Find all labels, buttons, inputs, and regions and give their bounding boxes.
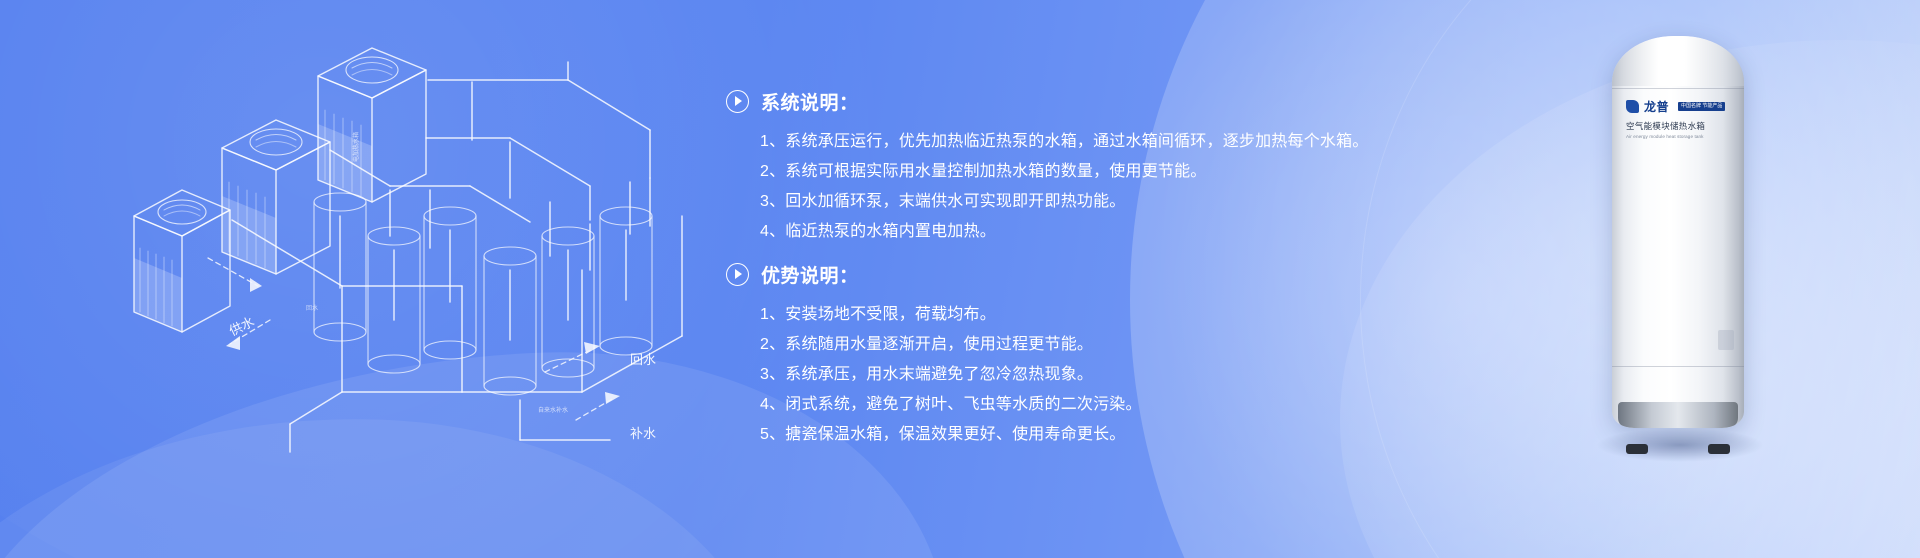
label-return-note: 回水 xyxy=(306,304,318,312)
storage-tank xyxy=(424,207,476,359)
description-column: 系统说明： 1、系统承压运行，优先加热临近热泵的水箱，通过水箱间循环，逐步加热每… xyxy=(726,88,1346,456)
tank-seam xyxy=(1612,366,1744,367)
brand-badge: 中国名牌 节能产品 xyxy=(1678,102,1725,111)
play-circle-icon xyxy=(726,263,749,286)
list-item: 5、搪瓷保温水箱，保温效果更好、使用寿命更长。 xyxy=(760,420,1346,450)
section-title: 优势说明： xyxy=(761,261,859,288)
list-item: 2、系统随用水量逐渐开启，使用过程更节能。 xyxy=(760,330,1346,360)
storage-tank xyxy=(368,227,420,373)
section-header: 优势说明： xyxy=(726,261,1346,288)
tank-base xyxy=(1618,402,1738,428)
logo-row: 龙普 中国名牌 节能产品 xyxy=(1626,98,1730,115)
product-title-en: Air energy module heat storage tank xyxy=(1626,134,1730,139)
storage-tank xyxy=(314,193,366,341)
list-item: 2、系统可根据实际用水量控制加热水箱的数量，使用更节能。 xyxy=(760,157,1346,187)
section-list: 1、系统承压运行，优先加热临近热泵的水箱，通过水箱间循环，逐步加热每个水箱。 2… xyxy=(726,127,1346,247)
section-title: 系统说明： xyxy=(761,88,859,115)
tank-side-panel xyxy=(1718,330,1734,350)
tank-seam xyxy=(1612,88,1744,89)
pipe-network xyxy=(232,62,682,452)
section-system-description: 系统说明： 1、系统承压运行，优先加热临近热泵的水箱，通过水箱间循环，逐步加热每… xyxy=(726,88,1346,247)
label-tank-note: 电加热水箱 xyxy=(352,132,360,162)
tank-top-cap xyxy=(1612,36,1744,86)
list-item: 3、回水加循环泵，末端供水可实现即开即热功能。 xyxy=(760,187,1346,217)
label-makeup-water: 补水 xyxy=(630,426,656,441)
list-item: 3、系统承压，用水末端避免了忽冷忽热现象。 xyxy=(760,360,1346,390)
tank-foot xyxy=(1626,444,1648,454)
storage-tank xyxy=(484,247,536,395)
list-item: 1、安装场地不受限，荷载均布。 xyxy=(760,300,1346,330)
label-return-water: 回水 xyxy=(630,352,656,367)
list-item: 4、临近热泵的水箱内置电加热。 xyxy=(760,217,1346,247)
product-branding: 龙普 中国名牌 节能产品 空气能模块储热水箱 Air energy module… xyxy=(1626,98,1730,139)
heat-pump-unit-1 xyxy=(134,190,230,332)
heat-pump-unit-3 xyxy=(318,48,426,202)
list-item: 4、闭式系统，避免了树叶、飞虫等水质的二次污染。 xyxy=(760,390,1346,420)
section-advantages: 优势说明： 1、安装场地不受限，荷载均布。 2、系统随用水量逐渐开启，使用过程更… xyxy=(726,261,1346,450)
brand-name: 龙普 xyxy=(1644,98,1669,115)
water-tank-body: 龙普 中国名牌 节能产品 空气能模块储热水箱 Air energy module… xyxy=(1612,36,1744,428)
label-supply-water: 供水 xyxy=(227,314,257,339)
system-schematic-diagram: 供水 回水 补水 自来水补水 电加热水箱 回水 xyxy=(90,20,730,480)
product-image: 龙普 中国名牌 节能产品 空气能模块储热水箱 Air energy module… xyxy=(1612,36,1744,448)
section-header: 系统说明： xyxy=(726,88,1346,115)
promo-banner: 供水 回水 补水 自来水补水 电加热水箱 回水 系统说明： 1、系统承压运行，优… xyxy=(0,0,1920,558)
product-title-cn: 空气能模块储热水箱 xyxy=(1626,120,1730,132)
tank-foot xyxy=(1708,444,1730,454)
label-makeup-water-small: 自来水补水 xyxy=(538,406,568,414)
section-list: 1、安装场地不受限，荷载均布。 2、系统随用水量逐渐开启，使用过程更节能。 3、… xyxy=(726,300,1346,450)
play-circle-icon xyxy=(726,90,749,113)
storage-tank xyxy=(600,207,652,355)
brand-logo-icon xyxy=(1626,100,1639,113)
flow-arrows xyxy=(208,258,620,420)
list-item: 1、系统承压运行，优先加热临近热泵的水箱，通过水箱间循环，逐步加热每个水箱。 xyxy=(760,127,1346,157)
product-shadow xyxy=(1596,428,1764,462)
storage-tank-group xyxy=(314,193,652,395)
